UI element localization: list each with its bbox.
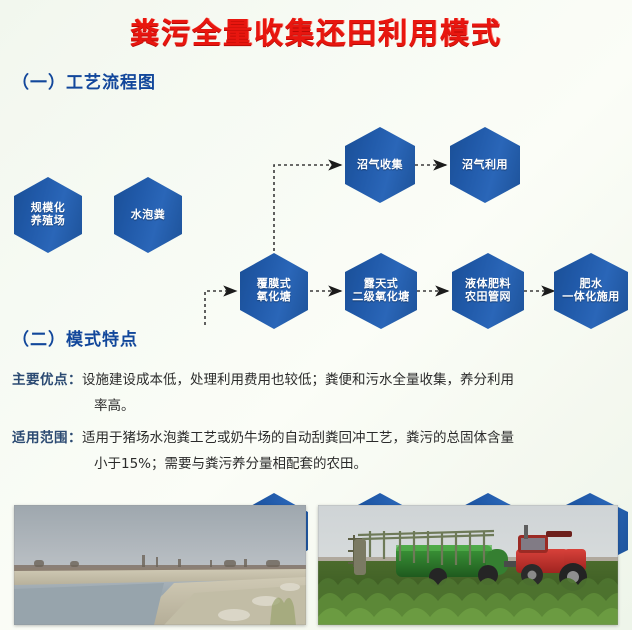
- flow-node-label: 沼气收集: [357, 159, 403, 172]
- flow-node-label: 沼气利用: [462, 159, 508, 172]
- flow-node-label: 露天式 二级氧化塘: [352, 278, 410, 303]
- flow-node-label: 规模化 养殖场: [31, 202, 66, 227]
- oxidation-pond-photo: [14, 505, 306, 625]
- section-heading-process-flow: （一）工艺流程图: [12, 68, 156, 93]
- feature-label: 适用范围：: [12, 430, 82, 446]
- process-flow-diagram: 规模化 养殖场 水泡粪 覆膜式 氧化塘 氧化塘 贮存 沼气收集 沼气利用 露天式…: [0, 95, 632, 325]
- feature-label: 主要优点：: [12, 372, 82, 388]
- feature-line-1: 适用于猪场水泡粪工艺或奶牛场的自动刮粪回冲工艺，粪污的总固体含量: [82, 430, 514, 446]
- flow-node-label: 覆膜式 氧化塘: [257, 278, 292, 303]
- slurry-applicator-photo: [318, 505, 618, 625]
- feature-line-2: 小于15%；需要与粪污养分量相配套的农田。: [12, 452, 624, 478]
- feature-line-1: 设施建设成本低，处理利用费用也较低；粪便和污水全量收集，养分利用: [82, 372, 514, 388]
- flow-node-label: 液体肥料 农田管网: [465, 278, 511, 303]
- poster-page: 粪污全量收集还田利用模式 （一）工艺流程图: [0, 0, 632, 630]
- flow-node-label: 肥水 一体化施用: [562, 278, 620, 303]
- feature-applicable-scope: 适用范围：适用于猪场水泡粪工艺或奶牛场的自动刮粪回冲工艺，粪污的总固体含量 小于…: [12, 426, 624, 477]
- page-title: 粪污全量收集还田利用模式: [0, 10, 632, 52]
- flow-node-label: 水泡粪: [131, 209, 166, 222]
- flow-connectors: [0, 95, 632, 325]
- feature-line-2: 率高。: [12, 394, 624, 420]
- feature-main-advantages: 主要优点：设施建设成本低，处理利用费用也较低；粪便和污水全量收集，养分利用 率高…: [12, 368, 624, 419]
- section-heading-model-features: （二）模式特点: [12, 325, 138, 350]
